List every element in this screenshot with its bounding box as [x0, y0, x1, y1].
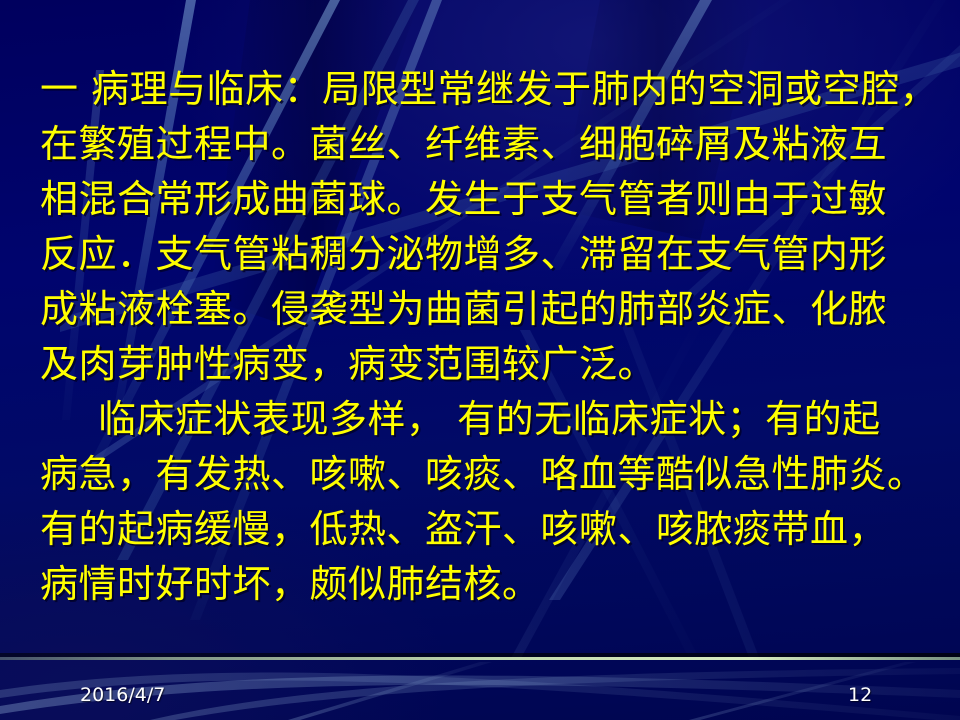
text-line: 反应．支气管粘稠分泌物增多、滞留在支气管内形 — [40, 227, 920, 282]
presentation-slide: 一 病理与临床：局限型常继发于肺内的空洞或空腔， 在繁殖过程中。菌丝、纤维素、细… — [0, 0, 960, 720]
slide-body-text: 一 病理与临床：局限型常继发于肺内的空洞或空腔， 在繁殖过程中。菌丝、纤维素、细… — [0, 0, 960, 612]
text-line: 有的起病缓慢，低热、盗汗、咳嗽、咳脓痰带血， — [40, 502, 920, 557]
text-line: 在繁殖过程中。菌丝、纤维素、细胞碎屑及粘液互 — [40, 117, 920, 172]
text-line: 临床症状表现多样， 有的无临床症状；有的起 — [40, 392, 920, 447]
text-line: 病情时好时坏，颇似肺结核。 — [40, 557, 920, 612]
footer-date: 2016/4/7 — [80, 686, 165, 705]
paragraph-symptoms: 临床症状表现多样， 有的无临床症状；有的起 病急，有发热、咳嗽、咳痰、咯血等酷似… — [40, 392, 920, 612]
text-line: 成粘液栓塞。侵袭型为曲菌引起的肺部炎症、化脓 — [40, 282, 920, 337]
text-line: 病急，有发热、咳嗽、咳痰、咯血等酷似急性肺炎。 — [40, 447, 920, 502]
footer-page-number: 12 — [848, 686, 872, 705]
text-line: 及肉芽肿性病变，病变范围较广泛。 — [40, 337, 920, 392]
text-line: 一 病理与临床：局限型常继发于肺内的空洞或空腔， — [40, 62, 920, 117]
text-line: 相混合常形成曲菌球。发生于支气管者则由于过敏 — [40, 172, 920, 227]
paragraph-pathology-clinical: 一 病理与临床：局限型常继发于肺内的空洞或空腔， 在繁殖过程中。菌丝、纤维素、细… — [40, 62, 920, 392]
